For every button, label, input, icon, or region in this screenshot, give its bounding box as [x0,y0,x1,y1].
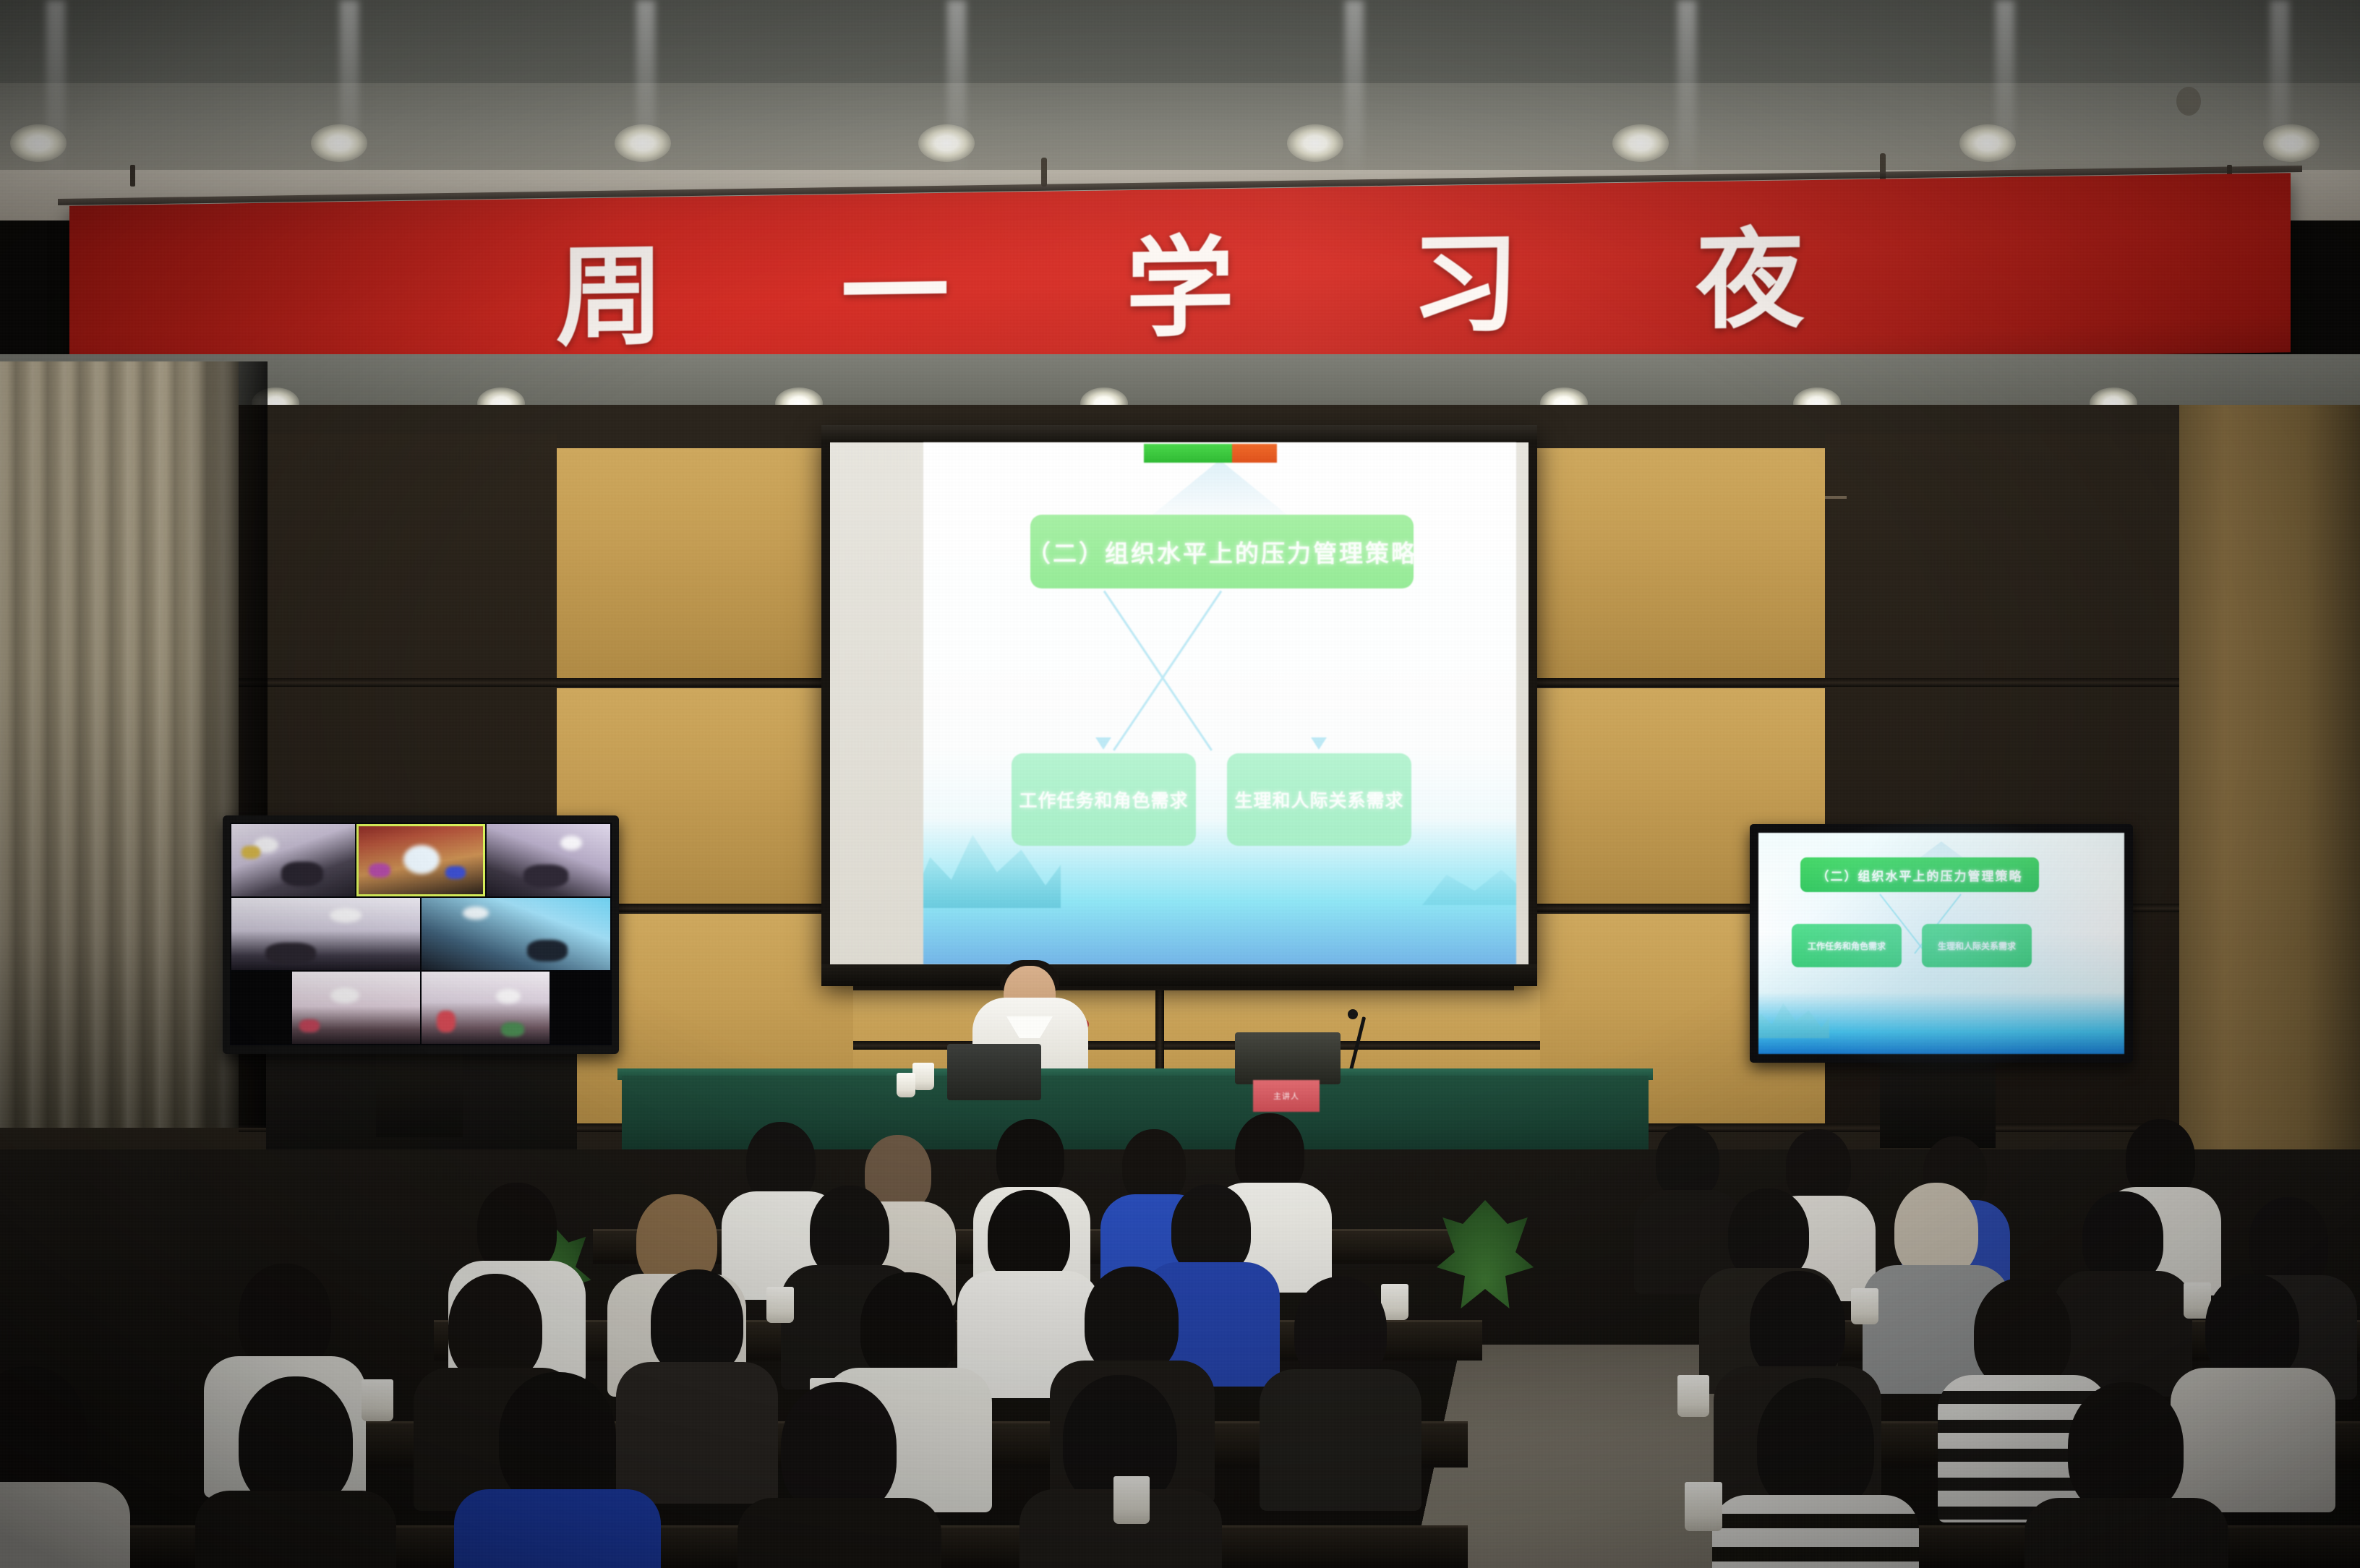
tv-title-box: （二）组织水平上的压力管理策略 [1800,857,2039,892]
tv-box-right: 生理和人际关系需求 [1922,924,2032,967]
multiview-row-1 [231,824,610,896]
microphone-head [1348,1009,1358,1019]
paper-cup [1685,1482,1722,1531]
tv-box-left-text: 工作任务和角色需求 [1808,940,1886,952]
multiview-row-3 [231,972,610,1044]
multiview-tile-empty [551,972,610,1044]
ceiling-downlight [2263,124,2320,162]
tv-stand [1880,1061,1996,1148]
slide-title-box: （二）组织水平上的压力管理策略 [1030,515,1414,588]
projection-screen-top-bar [821,425,1537,442]
tv-mountain-graphic [1758,993,1829,1038]
multiview-row-2 [231,898,610,970]
right-wall-pillar [2179,405,2360,1186]
speaker-nameplate-text: 主讲人 [1273,1090,1299,1102]
slide-box-right: 生理和人际关系需求 [1227,753,1411,846]
paper-cup [766,1287,794,1323]
slide-green-tab [1144,444,1232,463]
speaker-laptop[interactable] [947,1044,1041,1100]
tv-box-right-text: 生理和人际关系需求 [1938,940,2016,952]
multiview-tile-remote-site-7[interactable] [422,972,550,1044]
slide-arrow-left [1095,737,1111,750]
conference-hall-photo: 周 一 学 习 夜 （二）组织水平上的压力管理策略 [0,0,2360,1568]
wall-rail [1514,678,2186,687]
multiview-tile-remote-site-4[interactable] [231,898,420,970]
light-beam [1677,0,1696,181]
right-tv-screen[interactable]: （二）组织水平上的压力管理策略 工作任务和角色需求 生理和人际关系需求 [1758,833,2124,1054]
wall-panel-tan [550,448,853,680]
multiview-tile-remote-site-6[interactable] [292,972,420,1044]
ceiling-hook [1041,158,1047,187]
multiview-tile-remote-site-1[interactable] [231,824,355,896]
slide-connector-left [1103,591,1213,751]
podium-monitor[interactable] [1235,1032,1341,1084]
paper-cup [1113,1476,1150,1524]
ceiling-downlight [311,124,367,162]
ceiling-downlight [1612,124,1669,162]
ceiling-downlight [918,124,975,162]
slide-box-left-text: 工作任务和角色需求 [1019,787,1188,813]
tv-title-text: （二）组织水平上的压力管理策略 [1817,866,2023,884]
wall-rail [239,678,860,687]
multiview-tile-remote-site-5[interactable] [422,898,610,970]
paper-cup [362,1379,393,1421]
banner-text: 周 一 学 习 夜 [487,190,1874,367]
slide-box-right-text: 生理和人际关系需求 [1234,787,1403,813]
monitor-stand [376,1052,463,1137]
wall-rail-highlight [1825,496,1847,499]
paper-cup [897,1073,915,1097]
ceiling-fixture-speck [2176,87,2201,116]
multiview-monitor-grid[interactable] [230,823,612,1045]
ceiling-downlight [10,124,67,162]
slide-mountain-graphic-right [1422,854,1516,905]
speaker-nameplate: 主讲人 [1253,1080,1320,1112]
paper-cup [912,1063,934,1090]
ceiling-downlight [615,124,671,162]
tv-box-left: 工作任务和角色需求 [1792,924,1902,967]
slide-box-left: 工作任务和角色需求 [1012,753,1196,846]
paper-cup [1677,1375,1709,1417]
projected-slide: （二）组织水平上的压力管理策略 工作任务和角色需求 生理和人际关系需求 [923,442,1516,964]
red-banner: 周 一 学 习 夜 [69,173,2291,385]
multiview-tile-remote-site-3[interactable] [487,824,610,896]
projection-screen-bottom-bar [821,964,1537,986]
multiview-tile-empty [231,972,291,1044]
ceiling-downlight [1287,124,1343,162]
ceiling-downlight [1959,124,2016,162]
wall-panel-tan [1514,448,1825,680]
banner-tie [130,165,135,187]
multiview-tile-remote-site-2-active[interactable] [356,824,484,896]
slide-arrow-right [1311,737,1327,750]
light-beam [1345,0,1364,181]
paper-cup [1851,1288,1878,1324]
slide-orange-tab [1232,444,1277,463]
slide-connector-right [1113,591,1222,751]
slide-title-text: （二）组织水平上的压力管理策略 [1027,534,1417,569]
